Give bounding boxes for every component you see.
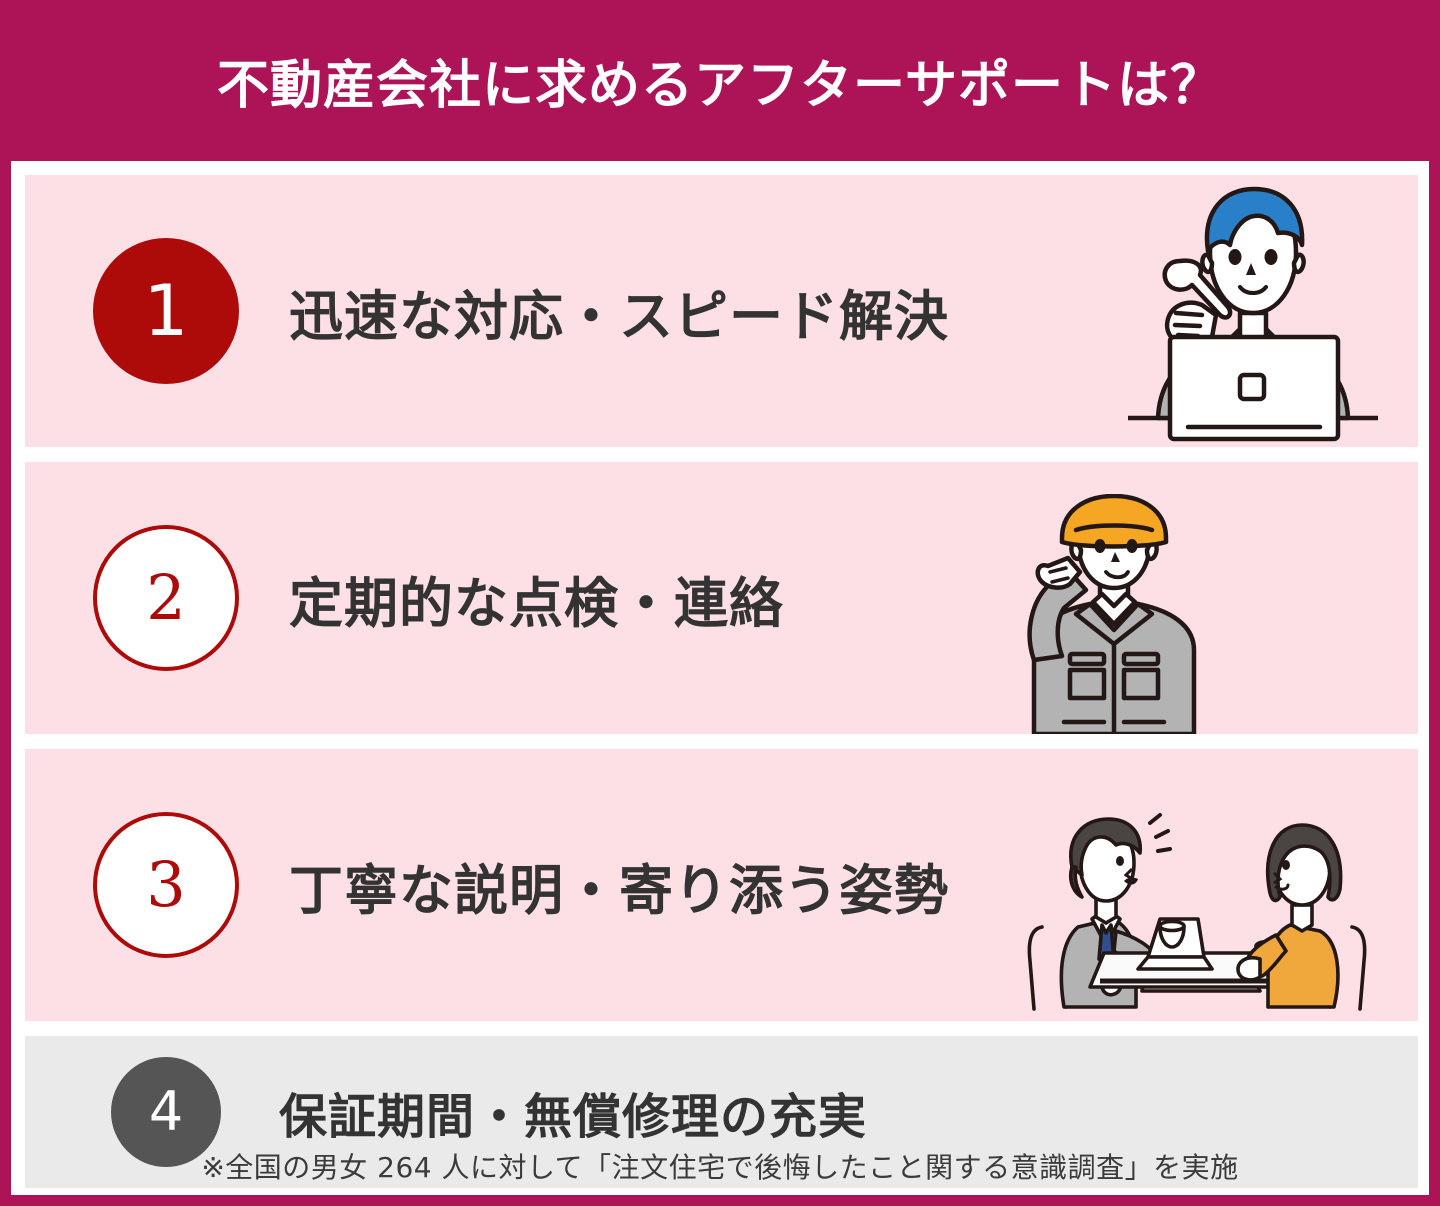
ranking-list: 1 迅速な対応・スピード解決: [25, 175, 1418, 1188]
rank-badge-1: 1: [93, 238, 239, 384]
survey-footnote: ※全国の男女 264 人に対して「注文住宅で後悔したこと関する意識調査」を実施: [11, 1146, 1429, 1186]
construction-worker-with-hardhat-icon: [998, 494, 1228, 734]
list-item-label: 保証期間・無償修理の充実: [279, 1077, 867, 1147]
rank-number: 4: [149, 1085, 183, 1139]
list-item: 2 定期的な点検・連絡: [25, 462, 1418, 734]
rank-number: 1: [144, 276, 189, 346]
businessman-on-phone-with-laptop-icon: [1128, 175, 1378, 447]
list-item: 1 迅速な対応・スピード解決: [25, 175, 1418, 447]
list-item: 3 丁寧な説明・寄り添う姿勢: [25, 749, 1418, 1021]
list-item-label: 丁寧な説明・寄り添う姿勢: [289, 846, 949, 925]
infographic-card: 不動産会社に求めるアフターサポートは？ 1 迅速な対応・スピード解決: [0, 0, 1440, 1206]
rank-badge-3: 3: [93, 812, 239, 958]
page-title: 不動産会社に求めるアフターサポートは？: [217, 43, 1223, 118]
header-banner: 不動産会社に求めるアフターサポートは？: [0, 0, 1440, 161]
rank-number: 3: [146, 854, 185, 916]
rank-badge-2: 2: [93, 525, 239, 671]
list-item-label: 定期的な点検・連絡: [289, 559, 784, 638]
list-item-label: 迅速な対応・スピード解決: [289, 272, 949, 351]
consultation-meeting-at-table-icon: [1008, 801, 1388, 1021]
rank-number: 2: [146, 567, 185, 629]
